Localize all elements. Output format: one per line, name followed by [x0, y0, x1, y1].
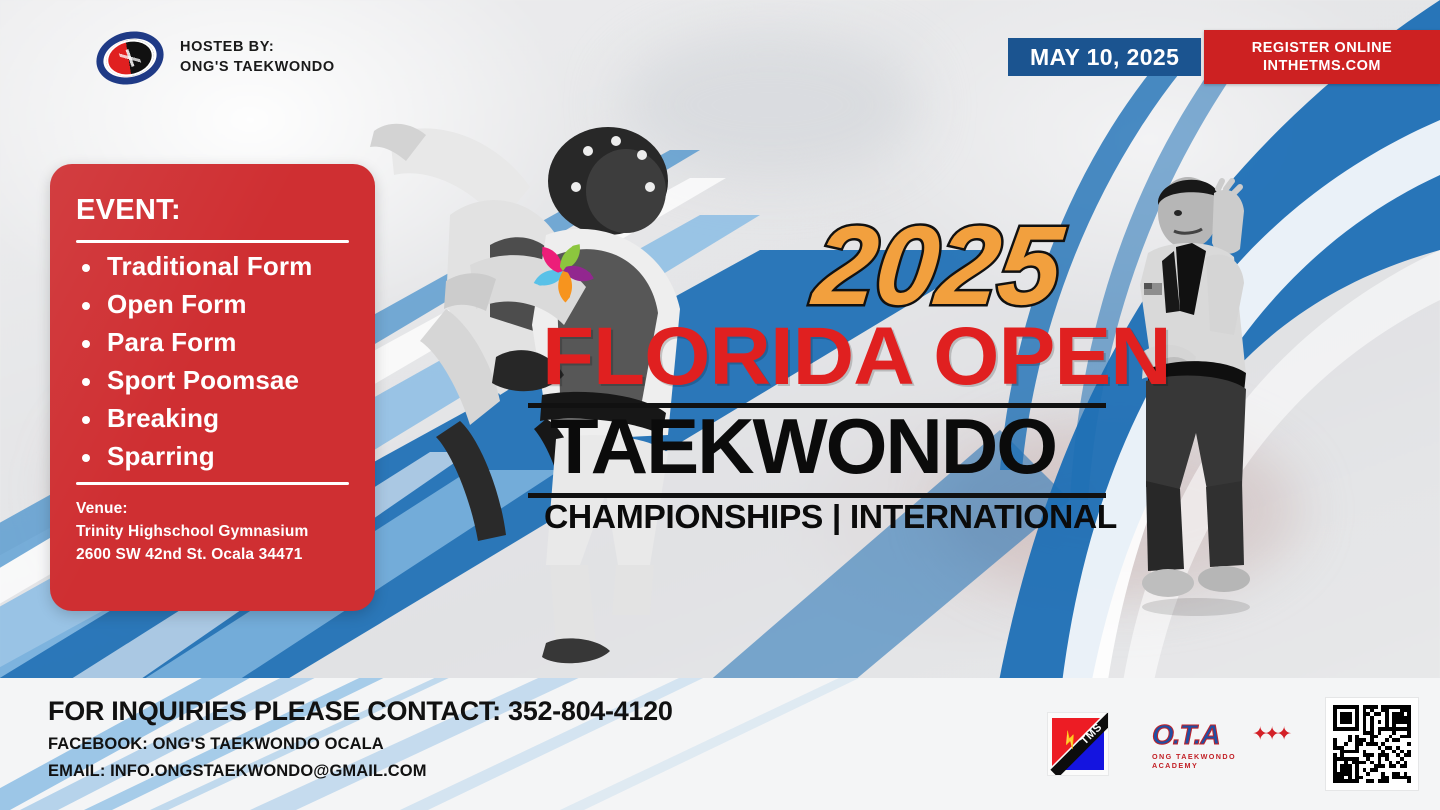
register-online-badge[interactable]: REGISTER ONLINE INTHETMS.COM: [1204, 30, 1440, 84]
title-subtitle: CHAMPIONSHIPS | INTERNATIONAL: [544, 498, 1117, 536]
event-list-item: Sparring: [80, 441, 349, 472]
event-list-item: Para Form: [80, 327, 349, 358]
ota-logo-icon: O.T.A ONG TAEKWONDO ACADEMY ✦✦✦: [1152, 719, 1282, 769]
register-line-2: INTHETMS.COM: [1263, 57, 1381, 75]
event-list-item: Open Form: [80, 289, 349, 320]
footer-bar: FOR INQUIRIES PLEASE CONTACT: 352-804-41…: [0, 678, 1440, 810]
venue-block: Venue: Trinity Highschool Gymnasium 2600…: [76, 498, 349, 567]
footer-email: EMAIL: INFO.ONGSTAEKWONDO@GMAIL.COM: [48, 762, 673, 781]
footer-facebook: FACEBOOK: ONG'S TAEKWONDO OCALA: [48, 735, 673, 754]
register-line-1: REGISTER ONLINE: [1252, 39, 1392, 57]
event-list-item: Traditional Form: [80, 251, 349, 282]
host-text: HOSTEB BY: ONG'S TAEKWONDO: [180, 38, 335, 77]
host-label: HOSTEB BY:: [180, 38, 335, 58]
host-block: HOSTEB BY: ONG'S TAEKWONDO: [96, 32, 335, 84]
footer-contact-block: FOR INQUIRIES PLEASE CONTACT: 352-804-41…: [48, 696, 673, 781]
qr-code-icon[interactable]: [1326, 698, 1418, 790]
ongs-taekwondo-logo-icon: [96, 32, 164, 84]
event-list-panel: EVENT: Traditional Form Open Form Para F…: [50, 164, 375, 611]
host-name: ONG'S TAEKWONDO: [180, 58, 335, 78]
event-list-item: Sport Poomsae: [80, 365, 349, 396]
ota-logo-subtitle: ONG TAEKWONDO ACADEMY: [1152, 752, 1282, 770]
event-list: Traditional Form Open Form Para Form Spo…: [76, 251, 349, 472]
multicolor-pinwheel-figures-icon: [520, 228, 606, 314]
divider-bottom: [76, 482, 349, 485]
ota-stars-icon: ✦✦✦: [1252, 723, 1288, 746]
venue-name: Trinity Highschool Gymnasium: [76, 521, 349, 544]
event-date-badge: MAY 10, 2025: [1008, 38, 1201, 76]
title-florida-open: FLORIDA OPEN: [542, 316, 1171, 398]
event-panel-title: EVENT:: [76, 194, 349, 227]
year-2025: 2025: [809, 210, 1066, 322]
event-poster: HOSTEB BY: ONG'S TAEKWONDO MAY 10, 2025 …: [0, 0, 1440, 810]
event-list-item: Breaking: [80, 403, 349, 434]
divider-top: [76, 240, 349, 243]
footer-logos: TMS ⚡ O.T.A ONG TAEKWONDO ACADEMY ✦✦✦: [1020, 678, 1440, 810]
venue-label: Venue:: [76, 498, 349, 521]
footer-contact-phone: FOR INQUIRIES PLEASE CONTACT: 352-804-41…: [48, 696, 673, 727]
tms-logo-icon: TMS ⚡: [1048, 713, 1108, 775]
title-taekwondo: TAEKWONDO: [550, 403, 1056, 490]
venue-address: 2600 SW 42nd St. Ocala 34471: [76, 544, 349, 567]
